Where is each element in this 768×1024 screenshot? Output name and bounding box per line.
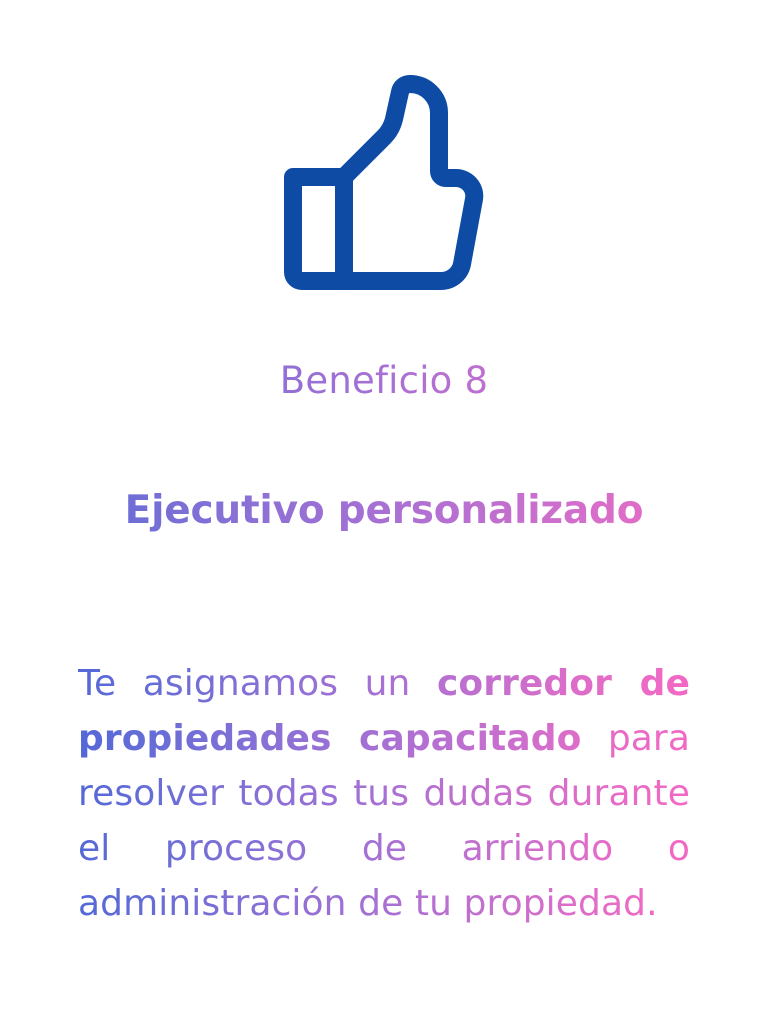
benefit-eyebrow: Beneficio 8 — [0, 358, 768, 404]
thumbs-up-icon-container — [0, 70, 768, 295]
description-lead: Te asignamos un — [78, 663, 437, 704]
benefit-headline: Ejecutivo personalizado — [0, 486, 768, 536]
benefit-description: Te asignamos un corredor de propiedades … — [78, 656, 690, 931]
benefit-card: Beneficio 8 Ejecutivo personalizado Te a… — [0, 0, 768, 1024]
thumbs-up-icon — [284, 75, 484, 290]
